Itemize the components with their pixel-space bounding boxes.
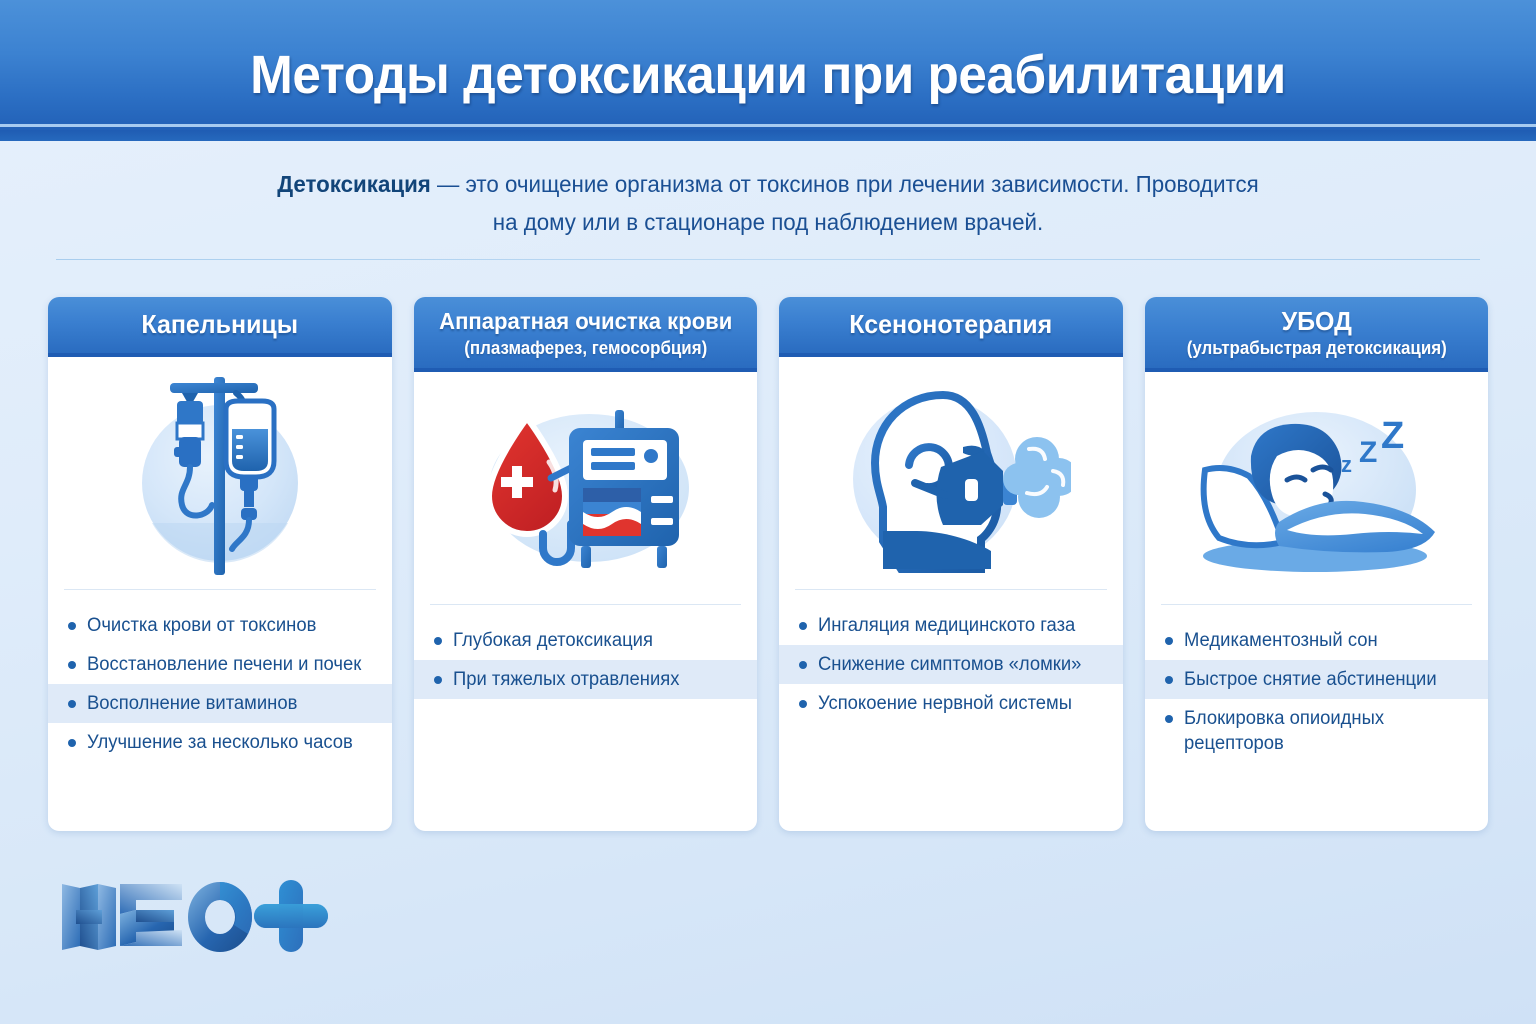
- card-title: Капельницы: [64, 309, 375, 340]
- infographic-poster: Методы детоксикации при реабилитации Дет…: [0, 0, 1536, 1024]
- benefit-list: Глубокая детоксикация При тяжелых отравл…: [414, 605, 758, 831]
- list-item: Восстановление печени и почек: [48, 645, 392, 684]
- sleeping-patient-icon: z Z Z: [1191, 404, 1441, 579]
- poster-header: Методы детоксикации при реабилитации: [0, 0, 1536, 141]
- list-item: Глубокая детоксикация: [414, 621, 758, 660]
- intro-line-2: на дому или в стационаре под наблюдением…: [186, 203, 1350, 241]
- card-subtitle: (плазмаферез, гемосорбция): [433, 337, 737, 360]
- bullet-dot-icon: [1165, 676, 1173, 684]
- benefit-list: Очистка крови от токсинов Восстановление…: [48, 590, 392, 831]
- card-header: Аппаратная очистка крови (плазмаферез, г…: [414, 297, 758, 372]
- list-item: Восполнение витаминов: [48, 684, 392, 723]
- intro-line-1-rest: — это очищение организма от токсинов при…: [431, 171, 1259, 197]
- list-item: Успокоение нервной системы: [779, 684, 1123, 723]
- list-item: Снижение симптомов «ломки»: [779, 645, 1123, 684]
- bullet-dot-icon: [799, 622, 807, 630]
- bullet-dot-icon: [799, 661, 807, 669]
- bullet-dot-icon: [68, 700, 76, 708]
- list-item-label: Быстрое снятие абстиненции: [1184, 667, 1437, 692]
- method-card-ubod[interactable]: УБОД (ультрабыстрая детоксикация): [1145, 297, 1489, 831]
- intro-line-1: Детоксикация — это очищение организма от…: [186, 165, 1350, 203]
- card-subtitle: (ультрабыстрая детоксикация): [1164, 337, 1468, 360]
- list-item-label: Блокировка опиоидных рецепторов: [1184, 706, 1466, 756]
- method-card-xenon[interactable]: Ксенонотерапия: [779, 297, 1123, 831]
- card-header: Капельницы: [48, 297, 392, 357]
- card-header: УБОД (ультрабыстрая детоксикация): [1145, 297, 1489, 372]
- card-icon-area: [48, 357, 392, 589]
- list-item-label: При тяжелых отравлениях: [453, 667, 679, 692]
- list-item: Блокировка опиоидных рецепторов: [1145, 699, 1489, 763]
- benefit-list: Ингаляция медицинското газа Снижение сим…: [779, 590, 1123, 831]
- sleep-z-medium: Z: [1359, 436, 1377, 469]
- card-icon-area: z Z Z: [1145, 372, 1489, 604]
- list-item: Очистка крови от токсинов: [48, 606, 392, 645]
- bullet-dot-icon: [68, 661, 76, 669]
- list-item-label: Глубокая детоксикация: [453, 628, 653, 653]
- card-icon-area: [414, 372, 758, 604]
- section-divider: [56, 259, 1480, 260]
- card-title: Аппаратная очистка крови: [430, 306, 741, 337]
- method-cards-row: Капельницы: [48, 297, 1488, 831]
- list-item-label: Медикаментозный сон: [1184, 628, 1378, 653]
- sleep-z-large: Z: [1381, 415, 1404, 457]
- intro-lead-term: Детоксикация: [277, 171, 431, 197]
- benefit-list: Медикаментозный сон Быстрое снятие абсти…: [1145, 605, 1489, 831]
- list-item-label: Восполнение витаминов: [87, 691, 297, 716]
- bullet-dot-icon: [799, 700, 807, 708]
- bullet-dot-icon: [434, 676, 442, 684]
- card-title: УБОД: [1161, 306, 1472, 337]
- list-item: Быстрое снятие абстиненции: [1145, 660, 1489, 699]
- list-item-label: Снижение симптомов «ломки»: [818, 652, 1081, 677]
- intro-block: Детоксикация — это очищение организма от…: [168, 165, 1368, 241]
- card-header: Ксенонотерапия: [779, 297, 1123, 357]
- list-item-label: Очистка крови от токсинов: [87, 613, 316, 638]
- bullet-dot-icon: [68, 622, 76, 630]
- card-title: Ксенонотерапия: [795, 309, 1106, 340]
- card-icon-area: [779, 357, 1123, 589]
- header-dark-band: [0, 130, 1536, 141]
- neo-plus-logo: [58, 874, 338, 958]
- iv-drip-icon: [120, 371, 320, 581]
- list-item-label: Восстановление печени и почек: [87, 652, 361, 677]
- method-card-blood-purification[interactable]: Аппаратная очистка крови (плазмаферез, г…: [414, 297, 758, 831]
- list-item: Улучшение за несколько часов: [48, 723, 392, 762]
- brand-logo-icon: [58, 874, 338, 958]
- bullet-dot-icon: [68, 739, 76, 747]
- list-item: Ингаляция медицинското газа: [779, 606, 1123, 645]
- list-item-label: Успокоение нервной системы: [818, 691, 1072, 716]
- blood-purification-icon: [465, 396, 705, 586]
- method-card-drip[interactable]: Капельницы: [48, 297, 392, 831]
- list-item: Медикаментозный сон: [1145, 621, 1489, 660]
- list-item-label: Улучшение за несколько часов: [87, 730, 353, 755]
- bullet-dot-icon: [1165, 715, 1173, 723]
- inhalation-mask-icon: [831, 379, 1071, 574]
- list-item: При тяжелых отравлениях: [414, 660, 758, 699]
- bullet-dot-icon: [434, 637, 442, 645]
- bullet-dot-icon: [1165, 637, 1173, 645]
- sleep-z-small: z: [1341, 452, 1352, 477]
- page-title: Методы детоксикации при реабилитации: [38, 44, 1497, 106]
- header-light-rule: [0, 124, 1536, 127]
- list-item-label: Ингаляция медицинското газа: [818, 613, 1075, 638]
